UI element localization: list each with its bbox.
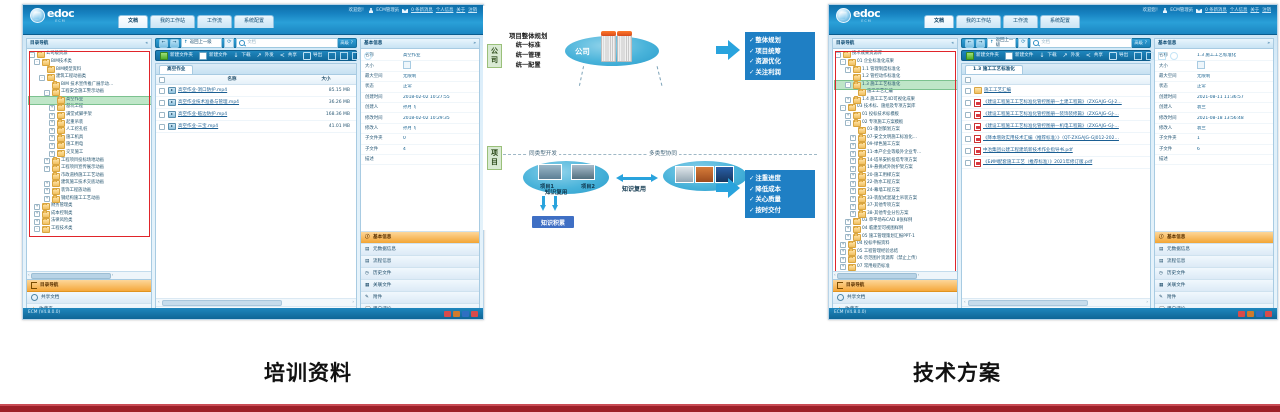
tree-node[interactable]: +19-悬挑式外防护架方案 [835,165,957,173]
download-button[interactable]: ↓ 下载 [233,53,250,59]
expand-toggle-icon[interactable]: + [840,242,846,248]
row-checkbox[interactable] [965,148,971,154]
tray-icon-red[interactable] [444,311,451,317]
table-body-left[interactable]: 高空作业-洞口防护.mp485.15 MB高空作业技术准备与管理.mp436.2… [156,85,356,133]
tree-node[interactable]: +01 投标技术标模板 [835,112,957,120]
row-checkbox[interactable] [159,100,165,106]
tree-node[interactable]: +07-安全文明施工标准化… [835,135,957,143]
tree-node[interactable]: +施工机具 [29,135,151,143]
file-name-label[interactable]: 《БИМ配套施工工艺（推荐标准）》2021年修订版.pdf [983,160,1092,165]
file-name-cell[interactable]: 高空作业-临边防护.mp4 [168,111,290,118]
tree-node[interactable]: 01-蓬创策划方案 [835,127,957,135]
ecm-window-right: edoc ECM 文档 我的工作站 工作流 系统配置 欢迎您！ ECM管理员 0… [828,4,1278,320]
sidebar-title-text: 目录导航 [30,41,48,46]
file-name-label[interactable]: 《建设工程施工工艺标准化管控图册—机电工程篇》（ZXGAJG-GJ-… [983,124,1119,129]
collapse-icon[interactable]: » [473,41,476,46]
expand-toggle-icon[interactable]: + [850,135,856,141]
tree-node[interactable]: -03 技术标、施组及专项方案库 [835,104,957,112]
column-size[interactable]: 大小 [296,77,356,82]
tree-node[interactable]: +法律风险类 [29,218,151,226]
check-icon: ✓ [749,185,754,193]
view-list-icon[interactable] [328,52,336,60]
tab-settings[interactable]: 系统配置 [1040,15,1080,28]
table-row[interactable]: 《建设工程施工工艺标准化管控图册—机电工程篇》（ZXGAJG-GJ-… [962,121,1150,133]
tree-node[interactable]: +03 单平场布CAD 8张样例 [835,218,957,226]
expand-toggle-icon[interactable]: + [44,188,50,194]
accordion-item-4[interactable]: ▦关联文件 [1155,280,1273,292]
accordion-item-2[interactable]: ▤流程信息 [1155,256,1273,268]
document-tab-bar-right[interactable]: 1.3 施工工艺标准化 [962,64,1150,75]
tab-workflow[interactable]: 工作流 [1003,15,1038,28]
accordion-item-5[interactable]: ✎附件 [361,292,479,304]
tree-node[interactable]: +04 临建型可视图样例 [835,226,957,234]
collapse-toggle-icon[interactable]: - [845,120,851,126]
tree-node-label: 建筑施工技术交底动画 [61,181,104,186]
info-row: 描述 [1155,155,1273,165]
view-list-icon[interactable] [1134,52,1142,60]
accordion-item-1[interactable]: ▤元数据信息 [361,244,479,256]
divider-label-left: 同类型开发 [527,149,559,157]
accordion-item-4[interactable]: ▦关联文件 [361,280,479,292]
tree-node[interactable]: -02 专项施工方案模板 [835,119,957,127]
tree-node-label: 37-其他专项方案 [867,204,900,209]
file-name-label[interactable]: 中冶集团公建工程建筑新技术作业指导书.pdf [983,148,1073,153]
tree-node[interactable]: 市政道桥施工工艺动画 [29,173,151,181]
tree-node[interactable]: +工程项目宣传展示动画 [29,165,151,173]
tree-node[interactable]: +05 施工管理策划汇报PPT-1 [835,233,957,241]
share-button[interactable]: < 共享 [1086,53,1103,59]
refresh-icon[interactable]: ⟳ [1018,38,1028,48]
tab-documents[interactable]: 文档 [924,15,954,28]
info-accordion-right[interactable]: ⓘ基本信息▤元数据信息▤流程信息◷历史文件▦关联文件✎附件💬用户评论 [1155,231,1273,316]
row-checkbox[interactable] [965,100,971,106]
tree-node[interactable]: 1.2 管控动作标准化 [835,74,957,82]
new-folder-button[interactable]: 新建文件夹 [966,52,999,60]
tree-node[interactable]: +06 示范图片资源库（禁止上传） [835,256,957,264]
folder-icon [37,51,45,58]
scroll-thumb[interactable] [837,273,917,279]
list-hscrollbar-right[interactable]: ‹ › [962,298,1150,306]
back-button[interactable]: ← [159,39,168,48]
bullet-label: 项目统筹 [755,47,781,55]
tree-node[interactable]: -工程技术类 [29,226,151,234]
expand-toggle-icon[interactable]: + [850,211,856,217]
search-actions[interactable]: 高级 ? [340,41,353,46]
folder-icon [42,211,50,218]
tree-node[interactable]: -公司级资源 [29,51,151,59]
select-all-checkbox[interactable] [965,77,971,83]
folder-icon [52,188,60,195]
tree-node[interactable]: +人工挖孔桩 [29,127,151,135]
view-detail-icon[interactable] [1146,52,1154,60]
collapse-toggle-icon[interactable]: - [34,59,40,65]
caption-technical-solution: 技术方案 [913,357,1001,387]
row-checkbox[interactable] [159,124,165,130]
table-body-right[interactable]: 施工工艺汇编《建设工程施工工艺标准化管控图册—土建工程篇》（ZXGAJG-GJ-… [962,85,1150,169]
collapse-toggle-icon[interactable]: - [39,75,45,81]
expand-toggle-icon[interactable]: + [850,143,856,149]
accordion-item-2[interactable]: ▤流程信息 [361,256,479,268]
file-name-label[interactable]: 高空作业-三宝.mp4 [178,124,218,129]
forward-button[interactable]: → [976,39,985,48]
search-input[interactable]: 文档 [236,38,338,48]
checkout-button[interactable]: ↗ 外发 [1063,53,1080,59]
tree-node-label: 05 工程管理经验总结 [857,250,898,255]
expand-toggle-icon[interactable] [850,90,856,96]
sidebar-item-directory[interactable]: 目录导航 [27,280,151,292]
tree-node[interactable]: 高空作业 [29,97,151,105]
accordion-item-icon: ▤ [365,247,370,252]
row-checkbox[interactable] [965,112,971,118]
back-button[interactable]: ← [965,39,974,48]
tree-node[interactable]: +工程项目投标场地动画 [29,157,151,165]
document-tab-bar-left[interactable]: 高空作业 [156,64,356,75]
export-button[interactable]: 导出 [1109,52,1128,60]
connector-left [579,66,584,86]
tree-node[interactable]: +11-本产企业等级外企业专… [835,150,957,158]
expand-toggle-icon[interactable]: + [850,151,856,157]
info-panel-title: 基本信息 » [361,39,479,49]
accordion-item-5[interactable]: ✎附件 [1155,292,1273,304]
table-row[interactable]: 《建设工程施工工艺标准化管控图册—装饰装修篇》（ZXGAJG-GJ-… [962,109,1150,121]
expand-toggle-icon[interactable]: + [49,105,55,111]
toolbar-right[interactable]: 新建文件夹 新建文件 ↓ 下载 ↗ 外发 < [961,50,1151,61]
expand-toggle-icon[interactable]: + [49,120,55,126]
forward-button[interactable]: → [170,39,179,48]
tab-settings[interactable]: 系统配置 [234,15,274,28]
expand-toggle-icon[interactable]: + [845,67,851,73]
tree-node[interactable]: +14-塔吊安拆投塔专项方案 [835,157,957,165]
expand-toggle-icon[interactable] [845,75,851,81]
sidebar-item-directory[interactable]: 目录导航 [833,280,957,292]
sidebar-item-shared[interactable]: 共享文档 [27,292,151,304]
expand-toggle-icon[interactable]: + [850,181,856,187]
expand-toggle-icon[interactable]: + [850,188,856,194]
collapse-toggle-icon[interactable]: - [835,52,841,58]
list-hscrollbar-left[interactable]: ‹ › [156,298,356,306]
expand-toggle-icon[interactable]: + [44,181,50,187]
row-checkbox[interactable] [965,88,971,94]
share-label: 共享 [288,53,297,58]
info-key: 状态 [1155,84,1197,89]
tree-node[interactable]: -建筑工程动画类 [29,74,151,82]
tree-node[interactable]: -工程安全施工警示动画 [29,89,151,97]
tree-node[interactable]: +交叉施工 [29,150,151,158]
expand-toggle-icon[interactable] [44,173,50,179]
tree-scroll-left[interactable]: -公司级资源-BIM技术类BIM模型资料-建筑工程动画类BIM 技术宣传推广展示… [27,49,151,271]
file-name-cell[interactable]: 《建设工程施工工艺标准化管控图册—土建工程篇》（ZXGAJG-GJ-2… [974,99,1150,107]
advanced-search-button[interactable]: 高级 [1134,41,1142,46]
info-accordion-left[interactable]: ⓘ基本信息▤元数据信息▤流程信息◷历史文件▦关联文件✎附件💬用户评论 [361,231,479,316]
checkout-button[interactable]: ↗ 外发 [257,53,274,59]
tree-node[interactable]: -BIM技术类 [29,59,151,67]
tree-node[interactable]: +37-其他专项方案 [835,203,957,211]
folder-icon [853,82,861,89]
scroll-thumb[interactable] [968,300,1088,306]
expand-toggle-icon[interactable]: + [49,113,55,119]
breadcrumb-bar[interactable]: ↑ 返回上一级 [987,38,1016,48]
tree-node[interactable]: +33-装配式混凝土吊装方案 [835,195,957,203]
tray-icons-left[interactable] [444,311,478,317]
tree-hscrollbar-left[interactable]: ‹ › [27,271,151,279]
tree-node[interactable]: +成本控制类 [29,210,151,218]
file-name-label[interactable]: 施工工艺汇编 [984,88,1011,93]
new-messages-link[interactable]: 0 条新消息 [411,8,433,13]
row-checkbox[interactable] [159,88,165,94]
new-document-button[interactable]: 新建文件 [199,52,227,60]
expand-toggle-icon[interactable]: + [845,226,851,232]
tree-node[interactable]: +20-施工用梯方案 [835,173,957,181]
tree-node[interactable]: +04 投标申报资料 [835,241,957,249]
download-label: 下载 [1047,53,1056,58]
expand-toggle-icon[interactable]: + [44,196,50,202]
expand-toggle-icon[interactable]: + [840,249,846,255]
tree-node[interactable]: +钢结构施工工艺动画 [29,195,151,203]
tree-node[interactable]: -1.3 施工工艺标准化 [835,81,957,89]
about-link[interactable]: 关于 [1250,8,1259,13]
share-icon [31,294,38,301]
folder-icon [858,135,866,142]
collapse-icon[interactable]: » [1267,41,1270,46]
file-name-label[interactable]: 高空作业-临边防护.mp4 [178,112,227,117]
table-row[interactable]: 施工工艺汇编 [962,85,1150,97]
refresh-icon[interactable]: ⟳ [224,38,234,48]
tree-node[interactable]: +装饰工程族动画 [29,188,151,196]
view-detail-icon[interactable] [340,52,348,60]
search-actions[interactable]: 高级 ? [1134,41,1147,46]
row-checkbox[interactable] [965,160,971,166]
accordion-item-label: 关联文件 [373,283,391,288]
tray-icons-right[interactable] [1238,311,1272,317]
toolbar-left[interactable]: 新建文件夹 新建文件 ↓ 下载 ↗ 外发 < [155,50,357,61]
gear-icon[interactable] [1170,52,1178,60]
tree-node-label: 03 单平场布CAD 8张样例 [862,219,912,224]
file-name-label[interactable]: 高空作业-洞口防护.mp4 [178,88,227,93]
tray-icon-orange[interactable] [1247,311,1254,317]
tree-node[interactable]: BIM 技术宣传推广展示动… [29,81,151,89]
expand-toggle-icon[interactable] [49,97,55,103]
view-mode-buttons[interactable] [328,52,372,60]
tree-node-label: 工程项目宣传展示动画 [61,166,104,171]
tab-workflow[interactable]: 工作流 [197,15,232,28]
tree-node-label: 市政道桥施工工艺动画 [61,174,104,179]
file-name-cell[interactable]: 《建设工程施工工艺标准化管控图册—装饰装修篇》（ZXGAJG-GJ-… [974,111,1150,119]
accordion-item-0[interactable]: ⓘ基本信息 [361,232,479,244]
folder-tree-left[interactable]: -公司级资源-BIM技术类BIM模型资料-建筑工程动画类BIM 技术宣传推广展示… [27,49,151,233]
sidebar-item-shared[interactable]: 共享文档 [833,292,957,304]
expand-toggle-icon[interactable]: + [850,166,856,172]
pdf-file-icon [974,111,981,119]
file-name-cell[interactable]: 《降本增效实用技术汇编（推荐标准）》（QT-ZXGAJG-GJ012-202… [974,135,1150,143]
table-row[interactable]: 高空作业技术准备与管理.mp436.26 MB [156,97,356,109]
document-tab[interactable]: 高空作业 [159,65,193,74]
new-messages-link[interactable]: 0 条新消息 [1205,8,1227,13]
new-folder-button[interactable]: 新建文件夹 [160,52,193,60]
search-input[interactable]: 文档 [1030,38,1132,48]
file-name-label[interactable]: 高空作业技术准备与管理.mp4 [178,100,239,105]
tree-node[interactable]: +1.1 管理制度标准化 [835,66,957,74]
app-body-right: 目录导航 « -技术成果资源库-01 企业标准化成果+1.1 管理制度标准化1.… [829,35,1277,320]
row-checkbox[interactable] [965,136,971,142]
expand-toggle-icon[interactable]: + [845,234,851,240]
collapse-toggle-icon[interactable]: - [840,59,846,65]
folder-icon [848,59,856,66]
expand-toggle-icon[interactable]: + [850,173,856,179]
expand-toggle-icon[interactable]: + [44,166,50,172]
help-icon[interactable]: ? [351,41,353,46]
table-row[interactable]: 中冶集团公建工程建筑新技术作业指导书.pdf [962,145,1150,157]
expand-toggle-icon[interactable]: + [34,219,40,225]
collapse-toggle-icon[interactable]: - [845,82,851,88]
accordion-item-1[interactable]: ▤元数据信息 [1155,244,1273,256]
tray-icon-orange[interactable] [453,311,460,317]
table-row[interactable]: 高空作业-三宝.mp441.01 MB [156,121,356,133]
collapse-toggle-icon[interactable]: - [840,105,846,111]
tree-node[interactable]: +24-幕墙工程方案 [835,188,957,196]
breadcrumb-bar[interactable]: ↑ 返回上一级 [181,38,222,48]
expand-toggle-icon[interactable]: + [44,158,50,164]
up-icon[interactable]: ↑ [990,40,994,45]
view-grid-icon[interactable] [352,52,360,60]
table-row[interactable]: 高空作业-临边防护.mp4168.36 MB [156,109,356,121]
file-name-cell[interactable]: 《建设工程施工工艺标准化管控图册—机电工程篇》（ZXGAJG-GJ-… [974,123,1150,131]
expand-toggle-icon[interactable]: + [49,135,55,141]
tree-node[interactable]: +22-防水工程方案 [835,180,957,188]
new-document-label: 新建文件 [1015,53,1033,58]
about-link[interactable]: 关于 [456,8,465,13]
collapse-toggle-icon[interactable]: - [29,52,35,58]
profile-link[interactable]: 个人信息 [436,8,454,13]
tree-node[interactable]: +05 工程管理经验总结 [835,248,957,256]
folder-tree-right[interactable]: -技术成果资源库-01 企业标准化成果+1.1 管理制度标准化1.2 管控动作标… [833,49,957,271]
file-name-cell[interactable]: 施工工艺汇编 [974,87,1150,94]
table-row[interactable]: 《建设工程施工工艺标准化管控图册—土建工程篇》（ZXGAJG-GJ-2… [962,97,1150,109]
logout-link[interactable]: 注销 [468,8,477,13]
collapse-icon[interactable]: « [145,41,148,46]
view-grid-icon[interactable] [1158,52,1166,60]
table-row[interactable]: 《БИМ配套施工工艺（推荐标准）》2021年修订版.pdf [962,157,1150,169]
expand-toggle-icon[interactable]: + [850,204,856,210]
collapse-toggle-icon[interactable]: - [44,90,50,96]
tree-node[interactable]: +财务管理类 [29,203,151,211]
greeting-text: 欢迎您！ [1143,8,1161,13]
expand-toggle-icon[interactable]: + [840,264,846,270]
tree-node[interactable]: +施工用电 [29,142,151,150]
export-button[interactable]: 导出 [303,52,322,60]
tree-node[interactable]: -技术成果资源库 [835,51,957,59]
collapse-toggle-icon[interactable]: - [34,226,40,232]
main-tabs-right[interactable]: 文档 我的工作站 工作流 系统配置 [924,15,1080,28]
file-name-cell[interactable]: 高空作业-三宝.mp4 [168,123,290,130]
help-icon[interactable]: ? [1145,41,1147,46]
tree-node[interactable]: +建筑施工技术交底动画 [29,180,151,188]
logout-link[interactable]: 注销 [1262,8,1271,13]
expand-toggle-icon[interactable]: + [845,113,851,119]
file-name-cell[interactable]: 高空作业-洞口防护.mp4 [168,87,290,94]
tree-node[interactable]: +满堂式脚手架 [29,112,151,120]
file-name-label[interactable]: 《建设工程施工工艺标准化管控图册—土建工程篇》（ZXGAJG-GJ-2… [983,100,1122,105]
tree-node[interactable]: +基坑工程 [29,104,151,112]
file-name-label[interactable]: 《降本增效实用技术汇编（推荐标准）》（QT-ZXGAJG-GJ012-202… [983,136,1119,141]
file-name-cell[interactable]: 高空作业技术准备与管理.mp4 [168,99,290,106]
expand-toggle-icon[interactable]: + [34,211,40,217]
new-document-button[interactable]: 新建文件 [1005,52,1033,60]
expand-toggle-icon[interactable]: + [49,151,55,157]
row-checkbox[interactable] [965,124,971,130]
expand-toggle-icon[interactable]: + [49,143,55,149]
scroll-thumb[interactable] [162,300,282,306]
download-button[interactable]: ↓ 下载 [1039,53,1056,59]
accordion-item-label: 关联文件 [1167,283,1185,288]
tab-workstation[interactable]: 我的工作站 [956,15,1001,28]
accordion-item-0[interactable]: ⓘ基本信息 [1155,232,1273,244]
tree-node[interactable]: +起重吊装 [29,119,151,127]
expand-toggle-icon[interactable]: + [850,196,856,202]
tray-icon-red2[interactable] [471,311,478,317]
tree-hscrollbar-right[interactable]: ‹ › [833,271,957,279]
accordion-item-icon: ▦ [365,283,370,288]
expand-toggle-icon[interactable] [850,128,856,134]
up-icon[interactable]: ↑ [184,40,188,45]
main-tabs-left[interactable]: 文档 我的工作站 工作流 系统配置 [118,15,274,28]
tray-icon-red2[interactable] [1265,311,1272,317]
select-all-checkbox[interactable] [159,77,165,83]
gear-icon[interactable] [364,52,372,60]
expand-toggle-icon[interactable]: + [845,97,851,103]
tray-icon-blue[interactable] [1256,311,1263,317]
tab-documents[interactable]: 文档 [118,15,148,28]
advanced-search-button[interactable]: 高级 [340,41,348,46]
document-tab[interactable]: 1.3 施工工艺标准化 [965,65,1023,74]
expand-toggle-icon[interactable] [44,82,50,88]
share-button[interactable]: < 共享 [280,53,297,59]
info-value: 孙月飞 [403,126,479,131]
tree-node[interactable]: 施工工艺汇编 [835,89,957,97]
table-row[interactable]: 《降本增效实用技术汇编（推荐标准）》（QT-ZXGAJG-GJ012-202… [962,133,1150,145]
tree-node[interactable]: +07 常用规范标准 [835,264,957,271]
collapse-icon[interactable]: « [951,41,954,46]
profile-link[interactable]: 个人信息 [1230,8,1248,13]
accordion-item-label: 流程信息 [373,259,391,264]
tree-node[interactable]: -01 企业标准化成果 [835,59,957,67]
info-value: 高空作业 [403,53,479,58]
accordion-item-3[interactable]: ◷历史文件 [361,268,479,280]
folder-icon [858,127,866,134]
expand-toggle-icon[interactable] [39,67,45,73]
expand-toggle-icon[interactable]: + [840,257,846,263]
tree-scroll-right[interactable]: -技术成果资源库-01 企业标准化成果+1.1 管理制度标准化1.2 管控动作标… [833,49,957,271]
tree-node[interactable]: +38-其他专业分包方案 [835,210,957,218]
column-name[interactable]: 名称 [168,77,296,82]
tree-node[interactable]: BIM模型资料 [29,66,151,74]
file-name-label[interactable]: 《建设工程施工工艺标准化管控图册—装饰装修篇》（ZXGAJG-GJ-… [983,112,1119,117]
tray-icon-blue[interactable] [462,311,469,317]
tray-icon-red[interactable] [1238,311,1245,317]
expand-toggle-icon[interactable]: + [845,219,851,225]
expand-toggle-icon[interactable]: + [34,204,40,210]
file-name-cell[interactable]: 中冶集团公建工程建筑新技术作业指导书.pdf [974,147,1150,155]
row-checkbox[interactable] [159,112,165,118]
tree-node[interactable]: +09-绿色施工方案 [835,142,957,150]
tab-workstation[interactable]: 我的工作站 [150,15,195,28]
file-name-cell[interactable]: 《БИМ配套施工工艺（推荐标准）》2021年修订版.pdf [974,159,1150,167]
accordion-item-3[interactable]: ◷历史文件 [1155,268,1273,280]
accordion-item-icon: ⓘ [365,235,370,240]
expand-toggle-icon[interactable]: + [850,158,856,164]
scroll-thumb[interactable] [31,273,111,279]
expand-toggle-icon[interactable]: + [49,128,55,134]
table-row[interactable]: 高空作业-洞口防护.mp485.15 MB [156,85,356,97]
